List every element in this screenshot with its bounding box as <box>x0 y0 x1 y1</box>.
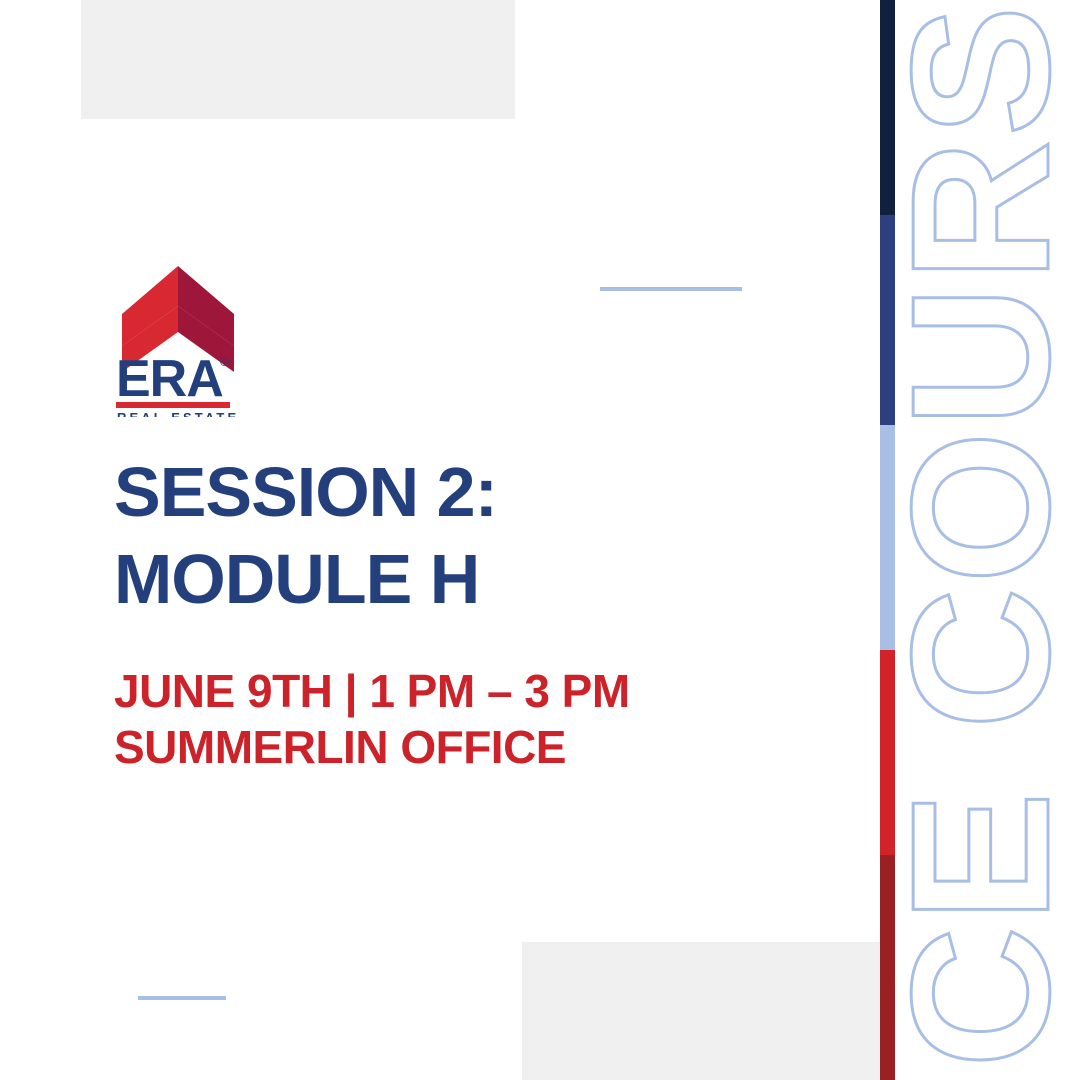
logo-wordmark: ERA <box>116 350 223 408</box>
era-logo-svg: ERA ® REAL ESTATE <box>114 262 242 417</box>
event-details: JUNE 9TH | 1 PM – 3 PM SUMMERLIN OFFICE <box>114 663 814 775</box>
color-bar-segment-dark-navy <box>880 0 895 215</box>
content-column: ERA ® REAL ESTATE SESSION 2: MODULE H JU… <box>114 262 814 775</box>
era-logo: ERA ® REAL ESTATE <box>114 262 242 417</box>
logo-divider-bar <box>116 402 230 408</box>
decor-accent-rule-bottom-left <box>138 996 226 1000</box>
decor-grey-block-top <box>81 0 515 119</box>
logo-trademark-icon: ® <box>220 354 230 369</box>
vertical-label-text: CE COURSE <box>871 0 1080 1068</box>
color-bar-segment-medium-navy <box>880 215 895 425</box>
page-title: SESSION 2: MODULE H <box>114 452 814 619</box>
poster-canvas: CE COURSE ERA ® REAL ESTATE <box>0 0 1080 1080</box>
decor-grey-block-bottom <box>522 942 885 1080</box>
page-title-line-1: SESSION 2: <box>114 452 814 533</box>
color-bar-segment-bright-red <box>880 650 895 855</box>
event-datetime: JUNE 9TH | 1 PM – 3 PM <box>114 663 814 719</box>
color-bar-segment-dark-red <box>880 855 895 1080</box>
event-location: SUMMERLIN OFFICE <box>114 719 814 775</box>
color-bar-segment-light-blue <box>880 425 895 650</box>
logo-tagline: REAL ESTATE <box>117 410 239 417</box>
vertical-color-bar <box>880 0 895 1080</box>
page-title-line-2: MODULE H <box>114 539 814 620</box>
